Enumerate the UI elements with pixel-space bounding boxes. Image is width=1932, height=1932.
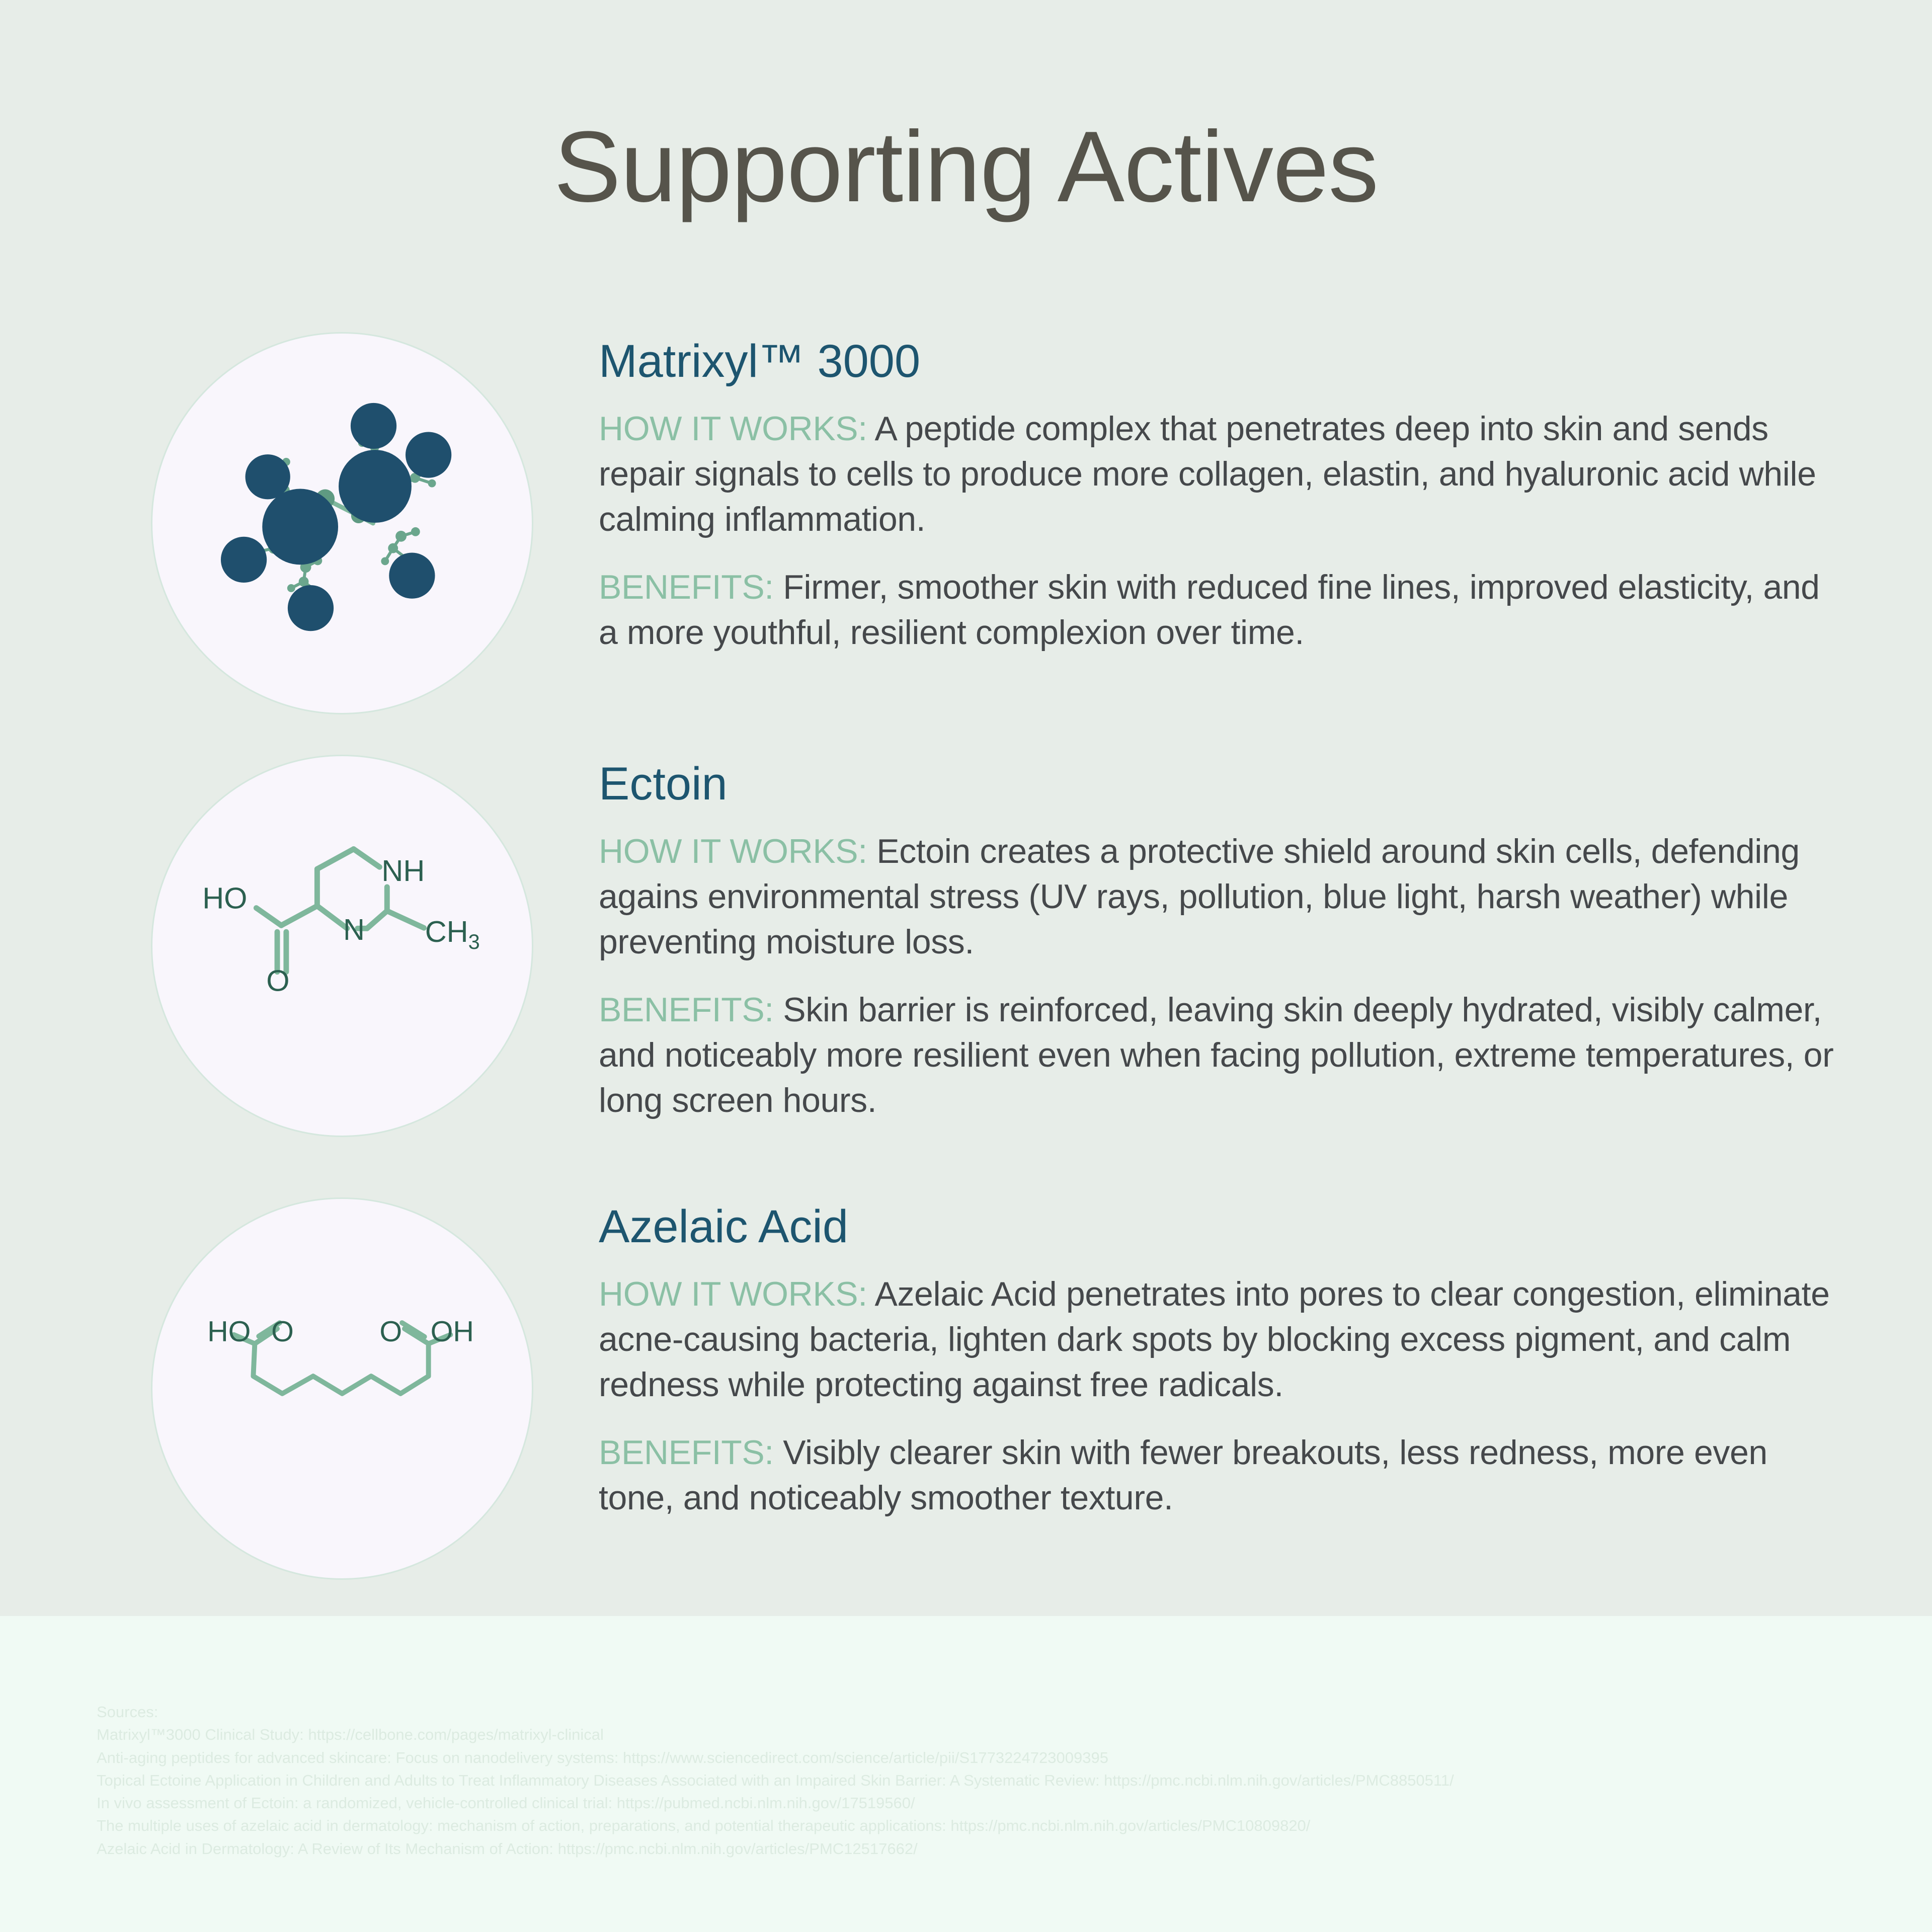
source-line: Matrixyl™3000 Clinical Study: https://ce…: [97, 1723, 1454, 1746]
molecule-label-ch3: CH3: [425, 915, 480, 953]
source-line: Topical Ectoine Application in Children …: [97, 1769, 1454, 1792]
how-it-works-paragraph: HOW IT WORKS: A peptide complex that pen…: [599, 407, 1841, 542]
molecule-label-o-left: O: [271, 1316, 294, 1348]
azelaic-acid-structure-molecule-icon: HO O O OH: [151, 1197, 533, 1580]
source-line: Anti-aging peptides for advanced skincar…: [97, 1746, 1454, 1769]
text-column: Matrixyl™ 3000 HOW IT WORKS: A peptide c…: [533, 332, 1932, 656]
benefits-text: Visibly clearer skin with fewer breakout…: [599, 1433, 1767, 1517]
peptide-network-molecule-icon: [151, 332, 533, 714]
molecule-label-o: O: [266, 963, 289, 997]
source-line: The multiple uses of azelaic acid in der…: [97, 1814, 1454, 1837]
sources-block: Sources: Matrixyl™3000 Clinical Study: h…: [97, 1701, 1454, 1860]
ingredient-name: Ectoin: [599, 761, 1841, 807]
how-it-works-label: HOW IT WORKS:: [599, 832, 867, 870]
ingredient-section-azelaic-acid: HO O O OH Azelaic Acid HOW IT WORKS: Aze…: [0, 1197, 1932, 1580]
ectoin-structure-molecule-icon: HO O NH N CH3: [151, 755, 533, 1137]
text-column: Azelaic Acid HOW IT WORKS: Azelaic Acid …: [533, 1197, 1932, 1521]
ingredient-section-ectoin: HO O NH N CH3 Ectoin HOW IT WORKS: Ectoi…: [0, 755, 1932, 1137]
how-it-works-label: HOW IT WORKS:: [599, 410, 867, 448]
source-line: Azelaic Acid in Dermatology: A Review of…: [97, 1837, 1454, 1860]
how-it-works-label: HOW IT WORKS:: [599, 1275, 867, 1313]
benefits-paragraph: BENEFITS: Visibly clearer skin with fewe…: [599, 1430, 1841, 1521]
benefits-paragraph: BENEFITS: Firmer, smoother skin with red…: [599, 565, 1841, 656]
molecule-label-ho-left: HO: [207, 1316, 251, 1348]
ingredient-name: Matrixyl™ 3000: [599, 338, 1841, 384]
molecule-label-o-right: O: [379, 1316, 402, 1348]
footer-area: Sources: Matrixyl™3000 Clinical Study: h…: [0, 1616, 1932, 1932]
benefits-text: Firmer, smoother skin with reduced fine …: [599, 568, 1820, 652]
molecule-label-n: N: [343, 913, 365, 946]
infographic-page: Supporting Actives: [0, 0, 1932, 1932]
page-title: Supporting Actives: [0, 117, 1932, 217]
sources-heading: Sources:: [97, 1701, 1454, 1723]
main-content-area: Supporting Actives: [0, 0, 1932, 1616]
benefits-label: BENEFITS:: [599, 568, 774, 606]
icon-column: HO O O OH: [0, 1197, 533, 1580]
text-column: Ectoin HOW IT WORKS: Ectoin creates a pr…: [533, 755, 1932, 1123]
icon-column: HO O NH N CH3: [0, 755, 533, 1137]
benefits-paragraph: BENEFITS: Skin barrier is reinforced, le…: [599, 988, 1841, 1123]
benefits-label: BENEFITS:: [599, 1433, 774, 1472]
molecule-label-oh-right: OH: [431, 1316, 474, 1348]
how-it-works-paragraph: HOW IT WORKS: Ectoin creates a protectiv…: [599, 829, 1841, 964]
how-it-works-paragraph: HOW IT WORKS: Azelaic Acid penetrates in…: [599, 1272, 1841, 1407]
source-line: In vivo assessment of Ectoin: a randomiz…: [97, 1792, 1454, 1814]
benefits-text: Skin barrier is reinforced, leaving skin…: [599, 991, 1833, 1119]
ingredient-section-matrixyl: Matrixyl™ 3000 HOW IT WORKS: A peptide c…: [0, 332, 1932, 714]
benefits-label: BENEFITS:: [599, 991, 774, 1029]
icon-column: [0, 332, 533, 714]
molecule-label-nh: NH: [381, 854, 425, 888]
ingredient-name: Azelaic Acid: [599, 1203, 1841, 1250]
molecule-label-ho: HO: [202, 881, 247, 915]
